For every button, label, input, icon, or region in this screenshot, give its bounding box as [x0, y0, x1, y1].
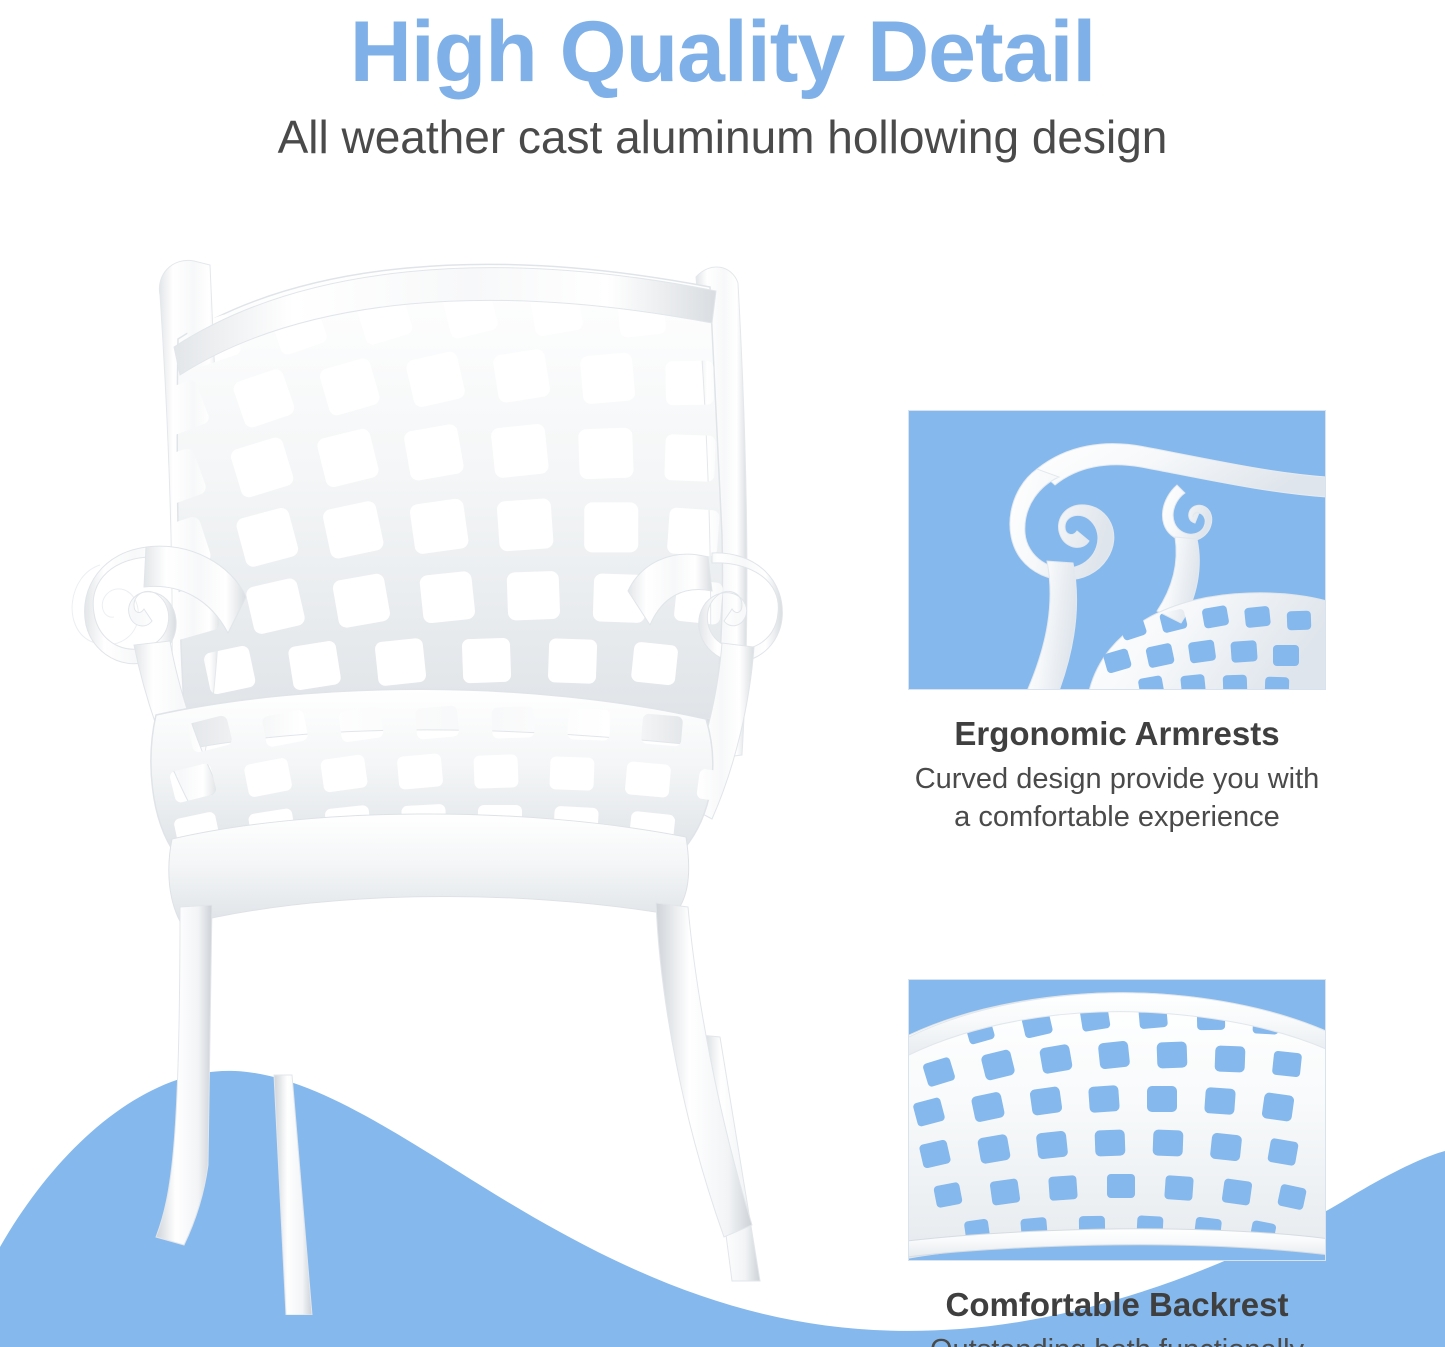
backrest-lattice-body [909, 993, 1326, 1260]
feature-desc-line-1: Curved design provide you with [908, 760, 1326, 798]
chair-front-right-leg [656, 903, 752, 1237]
page-title: High Quality Detail [0, 0, 1445, 100]
armrest-scroll-detail-photo [908, 410, 1326, 690]
header: High Quality Detail All weather cast alu… [0, 0, 1445, 166]
infographic-page: High Quality Detail All weather cast alu… [0, 0, 1445, 1347]
armrest-seat-edge [1089, 593, 1326, 690]
chair-icon [60, 235, 880, 1315]
feature-armrests: Ergonomic Armrests Curved design provide… [908, 410, 1326, 836]
chair-seat-apron [169, 814, 689, 925]
feature-title: Ergonomic Armrests [908, 690, 1326, 756]
page-subtitle: All weather cast aluminum hollowing desi… [0, 100, 1445, 166]
feature-desc-line-2: a comfortable experience [908, 798, 1326, 836]
feature-description: Curved design provide you with a comfort… [908, 756, 1326, 836]
chair-back-left-leg [274, 1075, 312, 1315]
armrest-left-post [1027, 561, 1077, 690]
feature-list: Ergonomic Armrests Curved design provide… [908, 410, 1326, 1347]
armrest-right-scroll [1162, 485, 1211, 541]
chair-front-left-leg [156, 905, 212, 1245]
hero-chair-image [60, 235, 880, 1315]
feature-desc-line-1: Outstanding both functionally [908, 1331, 1326, 1347]
feature-title: Comfortable Backrest [908, 1261, 1326, 1327]
feature-description: Outstanding both functionally and visual… [908, 1327, 1326, 1347]
feature-backrest: Comfortable Backrest Outstanding both fu… [908, 979, 1326, 1347]
backrest-lattice-detail-photo [908, 979, 1326, 1261]
